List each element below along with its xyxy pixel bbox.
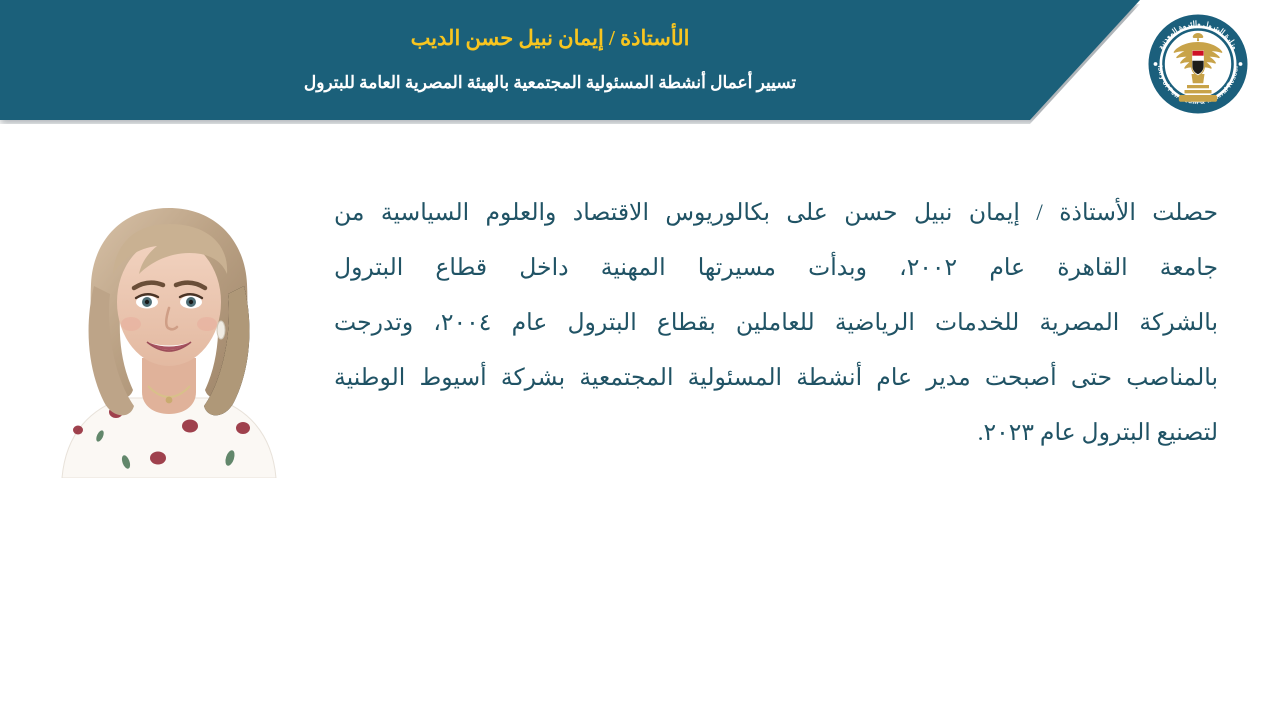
bio-line: لتصنيع البترول عام ٢٠٢٣. [334, 406, 1218, 461]
header-text-group: الأستاذة / إيمان نبيل حسن الديب تسيير أع… [0, 0, 1100, 120]
bio-line: بالمناصب حتى أصبحت مدير عام أنشطة المسئو… [334, 351, 1218, 406]
page-subtitle: تسيير أعمال أنشطة المسئولية المجتمعية با… [304, 73, 796, 93]
bio-line: جامعة القاهرة عام ٢٠٠٢، وبدأت مسيرتها ال… [334, 241, 1218, 296]
biography-text: حصلت الأستاذة / إيمان نبيل حسن على بكالو… [334, 186, 1218, 461]
bio-line: حصلت الأستاذة / إيمان نبيل حسن على بكالو… [334, 186, 1218, 241]
ministry-logo: وزارة البترول والثروة المعدنية Ministry … [1146, 12, 1250, 116]
page-title: الأستاذة / إيمان نبيل حسن الديب [411, 26, 690, 51]
portrait-photo [30, 190, 308, 478]
bio-line: بالشركة المصرية للخدمات الرياضية للعاملي… [334, 296, 1218, 351]
